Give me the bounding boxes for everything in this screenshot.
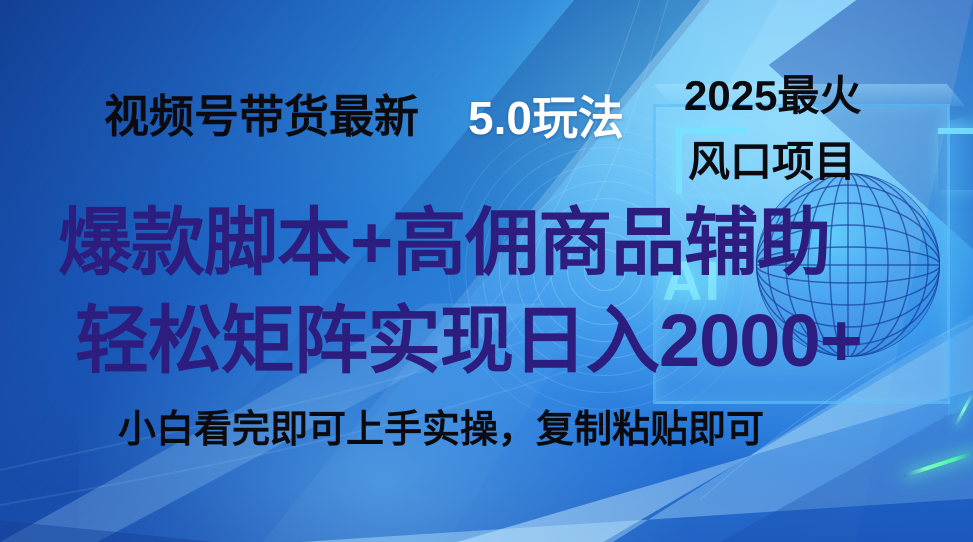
headline-top-highlight: 5.0玩法	[468, 82, 624, 148]
headline-main-line-1: 爆款脚本+高佣商品辅助	[58, 183, 830, 290]
promo-poster: AI 视频号带货最新 5.0玩法 2025最火 风口项目 爆款脚本+高佣商品辅助…	[0, 0, 973, 542]
badge-line-2: 风口项目	[688, 128, 856, 189]
badge-line-1: 2025最火	[684, 62, 861, 123]
poster-text-layer: 视频号带货最新 5.0玩法 2025最火 风口项目 爆款脚本+高佣商品辅助 轻松…	[0, 0, 973, 542]
poster-subtext: 小白看完即可上手实操，复制粘贴即可	[118, 398, 764, 453]
headline-main-line-2: 轻松矩阵实现日入2000+	[75, 281, 862, 388]
headline-top-left: 视频号带货最新	[104, 80, 419, 145]
